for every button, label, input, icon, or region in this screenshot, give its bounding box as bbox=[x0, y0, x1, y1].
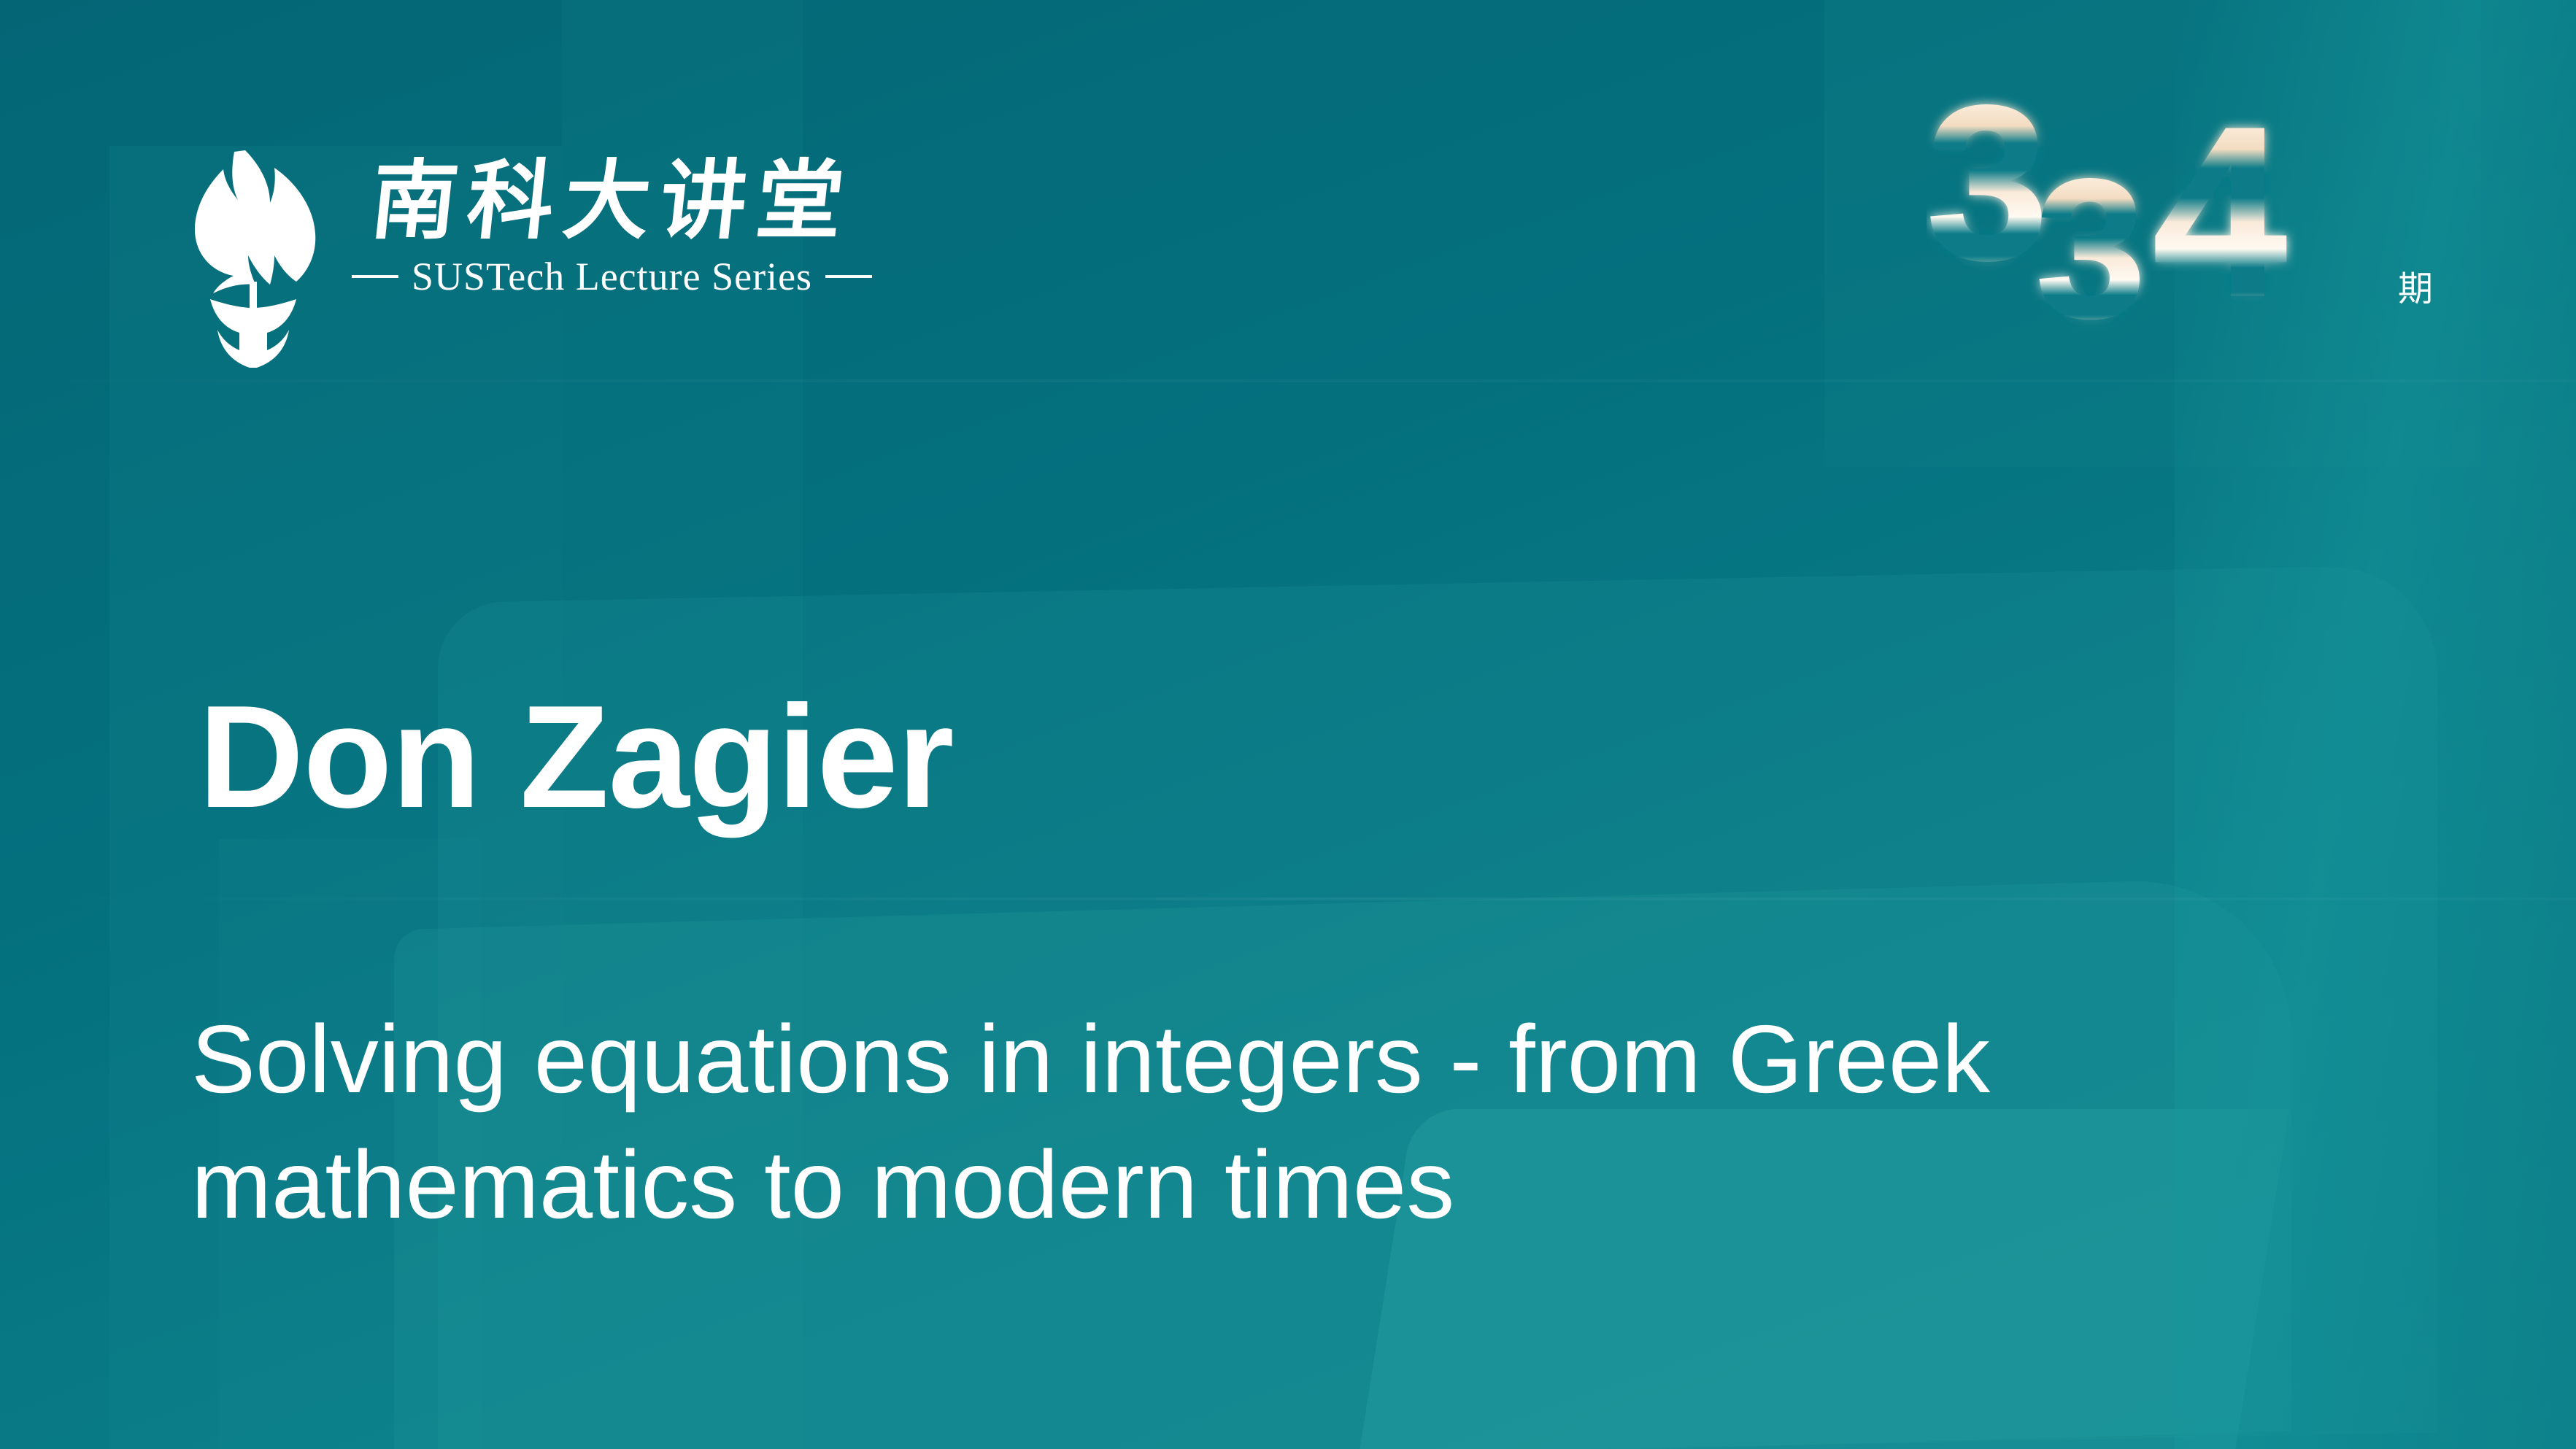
talk-title-line-2: mathematics to modern times bbox=[191, 1122, 2424, 1248]
talk-title-line-1: Solving equations in integers - from Gre… bbox=[191, 997, 2424, 1122]
wordmark-chinese: 南科大讲堂 bbox=[366, 158, 857, 244]
lecture-poster: 南科大讲堂 SUSTech Lecture Series bbox=[0, 0, 2576, 1449]
series-line: SUSTech Lecture Series bbox=[352, 254, 872, 299]
issue-badge: 3 3 4 期 bbox=[1927, 76, 2433, 353]
background-seam-upper bbox=[0, 379, 2576, 382]
series-dash-right-icon bbox=[825, 275, 872, 278]
svg-text:3: 3 bbox=[2036, 139, 2140, 353]
speaker-name: Don Zagier bbox=[198, 684, 954, 830]
talk-title: Solving equations in integers - from Gre… bbox=[191, 997, 2424, 1247]
svg-text:4: 4 bbox=[2153, 77, 2288, 346]
issue-number-wrap: 3 3 4 bbox=[1927, 76, 2379, 353]
issue-number-graphic: 3 3 4 bbox=[1927, 76, 2379, 353]
series-name: SUSTech Lecture Series bbox=[412, 254, 812, 299]
background-seam-lower bbox=[0, 897, 2576, 900]
issue-suffix-label: 期 bbox=[2398, 260, 2433, 311]
series-dash-left-icon bbox=[352, 275, 398, 278]
sustech-torch-flame-icon bbox=[188, 143, 318, 369]
brand-lockup: 南科大讲堂 SUSTech Lecture Series bbox=[188, 143, 872, 369]
wordmark-block: 南科大讲堂 SUSTech Lecture Series bbox=[352, 143, 872, 299]
svg-text:3: 3 bbox=[1927, 76, 2043, 305]
